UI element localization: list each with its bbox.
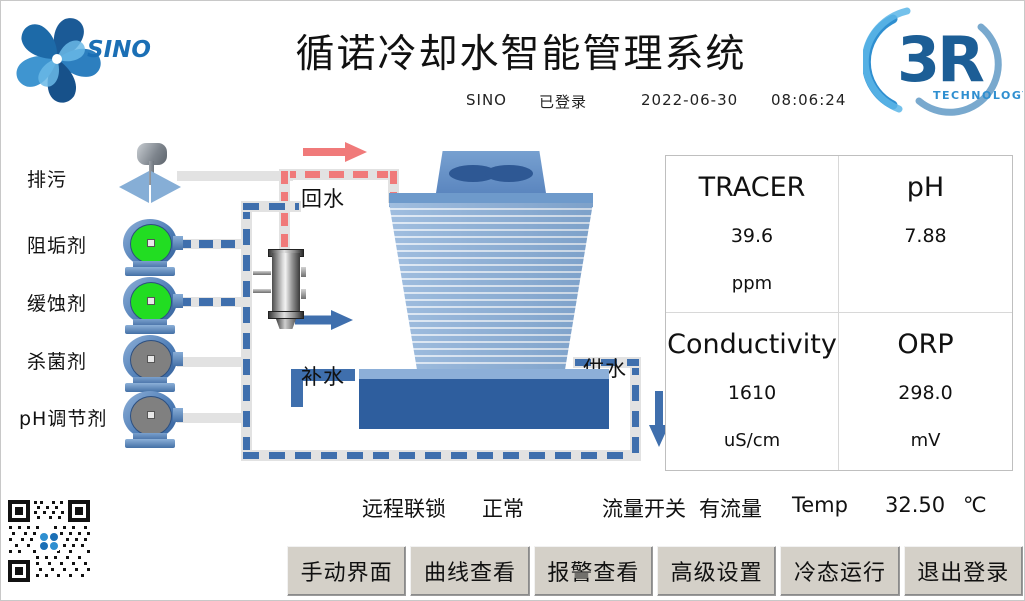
hx-shell — [272, 253, 300, 315]
metric-orp: ORP 298.0 mV — [839, 313, 1012, 470]
metric-conductivity: Conductivity 1610 uS/cm — [666, 313, 839, 470]
pipe-scale-flow — [177, 240, 249, 248]
hx-foot — [276, 319, 296, 329]
pump-base — [125, 267, 175, 276]
label-ph-adjuster: pH调节剂 — [19, 404, 107, 431]
logo-subtitle: TECHNOLOGY — [933, 89, 1023, 102]
metric-name: pH — [907, 174, 944, 201]
flow-switch-value: 有流量 — [699, 493, 762, 523]
sino-logo: SINO — [9, 9, 154, 109]
page-title: 循诺冷却水智能管理系统 — [251, 23, 791, 79]
metric-value: 7.88 — [904, 225, 946, 247]
pump-base — [125, 325, 175, 334]
session-date: 2022-06-30 — [641, 91, 738, 109]
logout-button[interactable]: 退出登录 — [904, 546, 1023, 596]
status-row: 远程联锁 正常 流量开关 有流量 Temp 32.50 ℃ — [287, 493, 1025, 529]
cold-start-button[interactable]: 冷态运行 — [780, 546, 899, 596]
pump-outlet — [173, 294, 183, 308]
pipe-ph — [177, 413, 247, 423]
session-login-state: 已登录 — [539, 91, 587, 112]
metric-unit: ppm — [732, 273, 772, 294]
fan-blade-icon — [485, 165, 533, 182]
label-scale-inhibitor: 阻垢剂 — [27, 231, 87, 258]
advanced-settings-button[interactable]: 高级设置 — [657, 546, 776, 596]
metric-ph: pH 7.88 — [839, 156, 1012, 313]
remote-interlock-label: 远程联锁 — [362, 493, 446, 523]
metric-value: 1610 — [728, 382, 776, 404]
remote-interlock-value: 正常 — [482, 493, 524, 523]
pump-center-dot — [147, 239, 155, 247]
hx-flange-right-upper — [301, 267, 306, 277]
heat-exchanger[interactable] — [263, 241, 309, 331]
pump-body — [119, 391, 181, 439]
pump-body — [119, 277, 181, 325]
pump-body — [119, 335, 181, 383]
metric-name: Conductivity — [667, 331, 837, 358]
pump-outlet — [173, 236, 183, 250]
pump-body — [119, 219, 181, 267]
pump-ph-adjuster[interactable] — [119, 391, 181, 453]
curve-view-button[interactable]: 曲线查看 — [410, 546, 529, 596]
pipe-corrosion-flow — [177, 298, 249, 306]
valve-body-right — [151, 171, 181, 203]
temperature-value: 32.50 — [885, 493, 945, 517]
label-corrosion-inhibitor: 缓蚀剂 — [27, 289, 87, 316]
3r-technology-logo: 3R TECHNOLOGY — [863, 5, 1023, 117]
pump-biocide[interactable] — [119, 335, 181, 397]
pump-outlet — [173, 352, 183, 366]
pump-center-dot — [147, 411, 155, 419]
pump-center-dot — [147, 355, 155, 363]
svg-text:SINO: SINO — [87, 37, 151, 63]
session-user: SINO — [466, 91, 507, 109]
metric-name: ORP — [897, 331, 953, 358]
pump-scale-inhibitor[interactable] — [119, 219, 181, 281]
flow-switch-label: 流量开关 — [602, 493, 686, 523]
metric-name: TRACER — [699, 174, 806, 201]
cooling-tower[interactable] — [331, 151, 641, 441]
hx-flange-right-lower — [301, 289, 306, 299]
pipe-blowdown — [177, 171, 293, 181]
blowdown-valve[interactable] — [119, 143, 183, 203]
hx-bottom-cap — [268, 311, 304, 319]
temperature-unit: ℃ — [963, 493, 987, 517]
hx-nozzle-left-lower — [253, 289, 271, 293]
pipe-biocide — [177, 357, 247, 367]
pump-base — [125, 439, 175, 448]
bottom-button-bar: 手动界面 曲线查看 报警查看 高级设置 冷态运行 退出登录 — [287, 546, 1023, 596]
pump-center-dot — [147, 297, 155, 305]
svg-text:3R: 3R — [897, 23, 984, 96]
label-blowdown: 排污 — [27, 165, 67, 192]
supply-pipe-topstub-flow — [243, 203, 299, 210]
alarm-view-button[interactable]: 报警查看 — [534, 546, 653, 596]
temperature-label: Temp — [792, 493, 848, 517]
session-time: 08:06:24 — [771, 91, 846, 109]
metric-value: 298.0 — [898, 382, 952, 404]
metric-unit: mV — [911, 430, 941, 451]
hx-nozzle-left-upper — [253, 271, 271, 275]
metric-unit: uS/cm — [724, 430, 780, 451]
qr-code — [6, 498, 92, 584]
pump-outlet — [173, 408, 183, 422]
measurement-panel: TRACER 39.6 ppm pH 7.88 Conductivity 161… — [665, 155, 1013, 471]
supply-pipe-left-flow — [243, 203, 250, 459]
tower-fill-shading — [389, 203, 593, 373]
valve-body-left — [119, 171, 149, 203]
pump-corrosion-inhibitor[interactable] — [119, 277, 181, 339]
tower-basin — [359, 379, 609, 429]
manual-interface-button[interactable]: 手动界面 — [287, 546, 406, 596]
header-bar: SINO 循诺冷却水智能管理系统 SINO 已登录 2022-06-30 08:… — [1, 1, 1025, 121]
process-diagram: 排污 阻垢剂 缓蚀剂 杀菌剂 pH调节剂 — [1, 121, 661, 481]
application-window: SINO 循诺冷却水智能管理系统 SINO 已登录 2022-06-30 08:… — [0, 0, 1025, 601]
metric-value: 39.6 — [731, 225, 773, 247]
metric-tracer: TRACER 39.6 ppm — [666, 156, 839, 313]
supply-pipe-bottom-flow — [243, 452, 639, 459]
label-biocide: 杀菌剂 — [27, 347, 87, 374]
